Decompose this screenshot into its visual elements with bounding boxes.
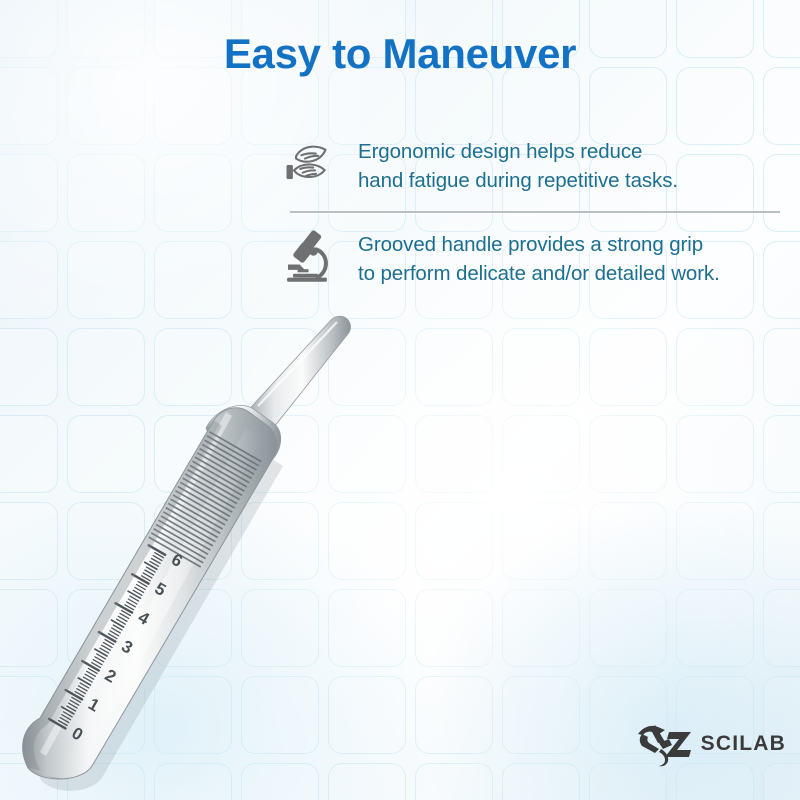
- handle-groove: [171, 499, 223, 529]
- ruler-minor-tick: [87, 671, 96, 676]
- ruler-minor-tick: [77, 689, 86, 694]
- background-tile: [415, 676, 493, 754]
- handle-groove: [151, 533, 203, 563]
- ruler-numeral: 0: [68, 723, 86, 744]
- background-tile: [154, 154, 232, 232]
- background-tile: [328, 328, 406, 406]
- ruler-minor-tick: [145, 570, 154, 575]
- ruler-minor-tick: [95, 649, 107, 656]
- background-tile: [0, 676, 58, 754]
- handle-groove: [154, 529, 206, 559]
- ruler-minor-tick: [97, 654, 106, 659]
- background-tile: [502, 502, 580, 580]
- background-tile: [0, 502, 58, 580]
- background-tile: [67, 589, 145, 667]
- ruler-minor-tick: [60, 718, 69, 723]
- page-title: Easy to Maneuver: [0, 30, 800, 78]
- background-tile: [502, 763, 580, 800]
- ruler-minor-tick: [147, 567, 156, 572]
- ruler-minor-tick: [100, 648, 109, 653]
- background-tile: [328, 763, 406, 800]
- handle-groove: [183, 478, 235, 508]
- ruler-minor-tick: [108, 634, 117, 639]
- ruler-minor-tick: [70, 700, 79, 705]
- handle-groove: [200, 449, 252, 479]
- ruler-numeral: 2: [102, 666, 120, 687]
- background-tile: [154, 241, 232, 319]
- ruler-minor-tick: [67, 706, 76, 711]
- ruler-minor-tick: [150, 561, 159, 566]
- background-tile: [589, 763, 667, 800]
- ruler-major-tick: [149, 545, 166, 555]
- background-tile: [67, 328, 145, 406]
- background-tile: [154, 67, 232, 145]
- ruler-minor-tick: [93, 660, 102, 665]
- scalpel-handle-image: 0123456: [0, 300, 580, 800]
- ruler-major-tick: [82, 661, 99, 671]
- hand-leaf-icon: [282, 134, 344, 192]
- ruler-numeral: 1: [85, 694, 103, 715]
- feature-line: hand fatigue during repetitive tasks.: [358, 166, 678, 195]
- background-tile: [415, 328, 493, 406]
- ruler-minor-tick: [78, 678, 90, 685]
- ruler-minor-tick: [88, 668, 97, 673]
- handle-groove: [175, 491, 227, 521]
- handle-groove: [173, 495, 225, 525]
- ruler-minor-tick: [62, 707, 74, 714]
- ruler-major-tick: [49, 719, 66, 729]
- handle-groove: [159, 520, 211, 550]
- handle-groove: [166, 508, 218, 538]
- background-tile: [241, 328, 319, 406]
- ruler-minor-tick: [138, 582, 147, 587]
- feature-text-ergonomic: Ergonomic design helps reduce hand fatig…: [358, 134, 678, 195]
- handle-groove: [168, 503, 220, 533]
- handle-groove: [190, 465, 242, 495]
- handle-groove: [178, 487, 230, 517]
- ruler-minor-tick: [125, 605, 134, 610]
- ruler-minor-tick: [85, 674, 94, 679]
- ruler-major-tick: [66, 690, 83, 699]
- ruler-minor-tick: [62, 715, 71, 720]
- background-tile: [502, 328, 580, 406]
- handle-groove: [161, 516, 213, 546]
- ruler-minor-tick: [64, 712, 73, 717]
- background-tile: [589, 328, 667, 406]
- ruler-minor-tick: [153, 556, 162, 561]
- background-tile: [241, 763, 319, 800]
- background-tile: [67, 763, 145, 800]
- feature-line: Ergonomic design helps reduce: [358, 137, 678, 166]
- feature-line: to perform delicate and/or detailed work…: [358, 259, 720, 288]
- ruler-numeral: 3: [118, 637, 136, 658]
- ruler-numeral: 5: [151, 579, 169, 600]
- ruler-minor-tick: [118, 616, 127, 621]
- feature-item-grooved-handle: Grooved handle provides a strong grip to…: [282, 227, 782, 288]
- ruler-minor-tick: [128, 599, 137, 604]
- ruler-minor-tick: [105, 640, 114, 645]
- background-tile: [67, 502, 145, 580]
- background-tile: [502, 676, 580, 754]
- ruler-minor-tick: [102, 645, 111, 650]
- background-tile: [763, 415, 800, 493]
- ruler-major-tick: [132, 574, 149, 584]
- ruler-minor-tick: [152, 559, 161, 564]
- ruler-minor-tick: [113, 625, 122, 630]
- background-tile: [67, 676, 145, 754]
- background-tile: [763, 328, 800, 406]
- ruler-minor-tick: [137, 585, 146, 590]
- background-tile: [0, 328, 58, 406]
- handle-groove: [180, 482, 232, 512]
- ruler-minor-tick: [112, 620, 124, 627]
- microscope-icon: [282, 227, 344, 285]
- background-tile: [241, 589, 319, 667]
- ruler-minor-tick: [142, 576, 151, 581]
- ruler-minor-tick: [110, 631, 119, 636]
- background-tile: [589, 589, 667, 667]
- background-tile: [415, 763, 493, 800]
- background-tile: [0, 241, 58, 319]
- background-tile: [241, 502, 319, 580]
- saz-monogram-icon: [635, 722, 697, 768]
- ruler-minor-tick: [112, 628, 121, 633]
- background-tile: [763, 763, 800, 800]
- background-tile: [328, 502, 406, 580]
- background-tile: [154, 676, 232, 754]
- background-tile: [0, 154, 58, 232]
- background-tile: [328, 676, 406, 754]
- background-tile: [328, 415, 406, 493]
- handle-groove: [163, 512, 215, 542]
- background-tile: [415, 415, 493, 493]
- background-tint-bottom-left: [0, 480, 440, 800]
- background-tile: [763, 589, 800, 667]
- background-tile-pattern: [0, 0, 800, 800]
- handle-groove: [202, 444, 254, 474]
- background-tile: [0, 589, 58, 667]
- handle-groove: [188, 470, 240, 500]
- logo-wordmark: SCILAB: [701, 732, 786, 758]
- ruler-minor-tick: [103, 642, 112, 647]
- ruler-major-tick: [116, 603, 133, 612]
- feature-text-grooved-handle: Grooved handle provides a strong grip to…: [358, 227, 720, 288]
- ruler-numeral: 4: [135, 608, 153, 629]
- background-tile: [676, 415, 754, 493]
- handle-groove: [149, 537, 201, 567]
- feature-divider: [290, 211, 780, 213]
- ruler-minor-tick: [155, 553, 164, 558]
- ruler-minor-tick: [83, 677, 92, 682]
- handle-groove: [195, 457, 247, 487]
- background-tile: [676, 502, 754, 580]
- ruler-minor-tick: [128, 591, 140, 598]
- ruler-minor-tick: [92, 663, 101, 668]
- background-tile: [589, 502, 667, 580]
- background-tile: [415, 589, 493, 667]
- background-tile: [676, 589, 754, 667]
- ruler-minor-tick: [78, 686, 87, 691]
- background-tile: [154, 589, 232, 667]
- handle-groove: [192, 461, 244, 491]
- background-tile: [589, 415, 667, 493]
- background-tile: [502, 415, 580, 493]
- handle-groove: [207, 436, 259, 466]
- ruler-minor-tick: [145, 562, 157, 569]
- background-tile: [241, 676, 319, 754]
- background-tile: [0, 415, 58, 493]
- handle-groove: [185, 474, 237, 504]
- ruler-minor-tick: [117, 619, 126, 624]
- ruler-minor-tick: [72, 697, 81, 702]
- background-tile: [415, 502, 493, 580]
- ruler-minor-tick: [69, 703, 78, 708]
- brand-logo: SCILAB: [635, 722, 786, 768]
- ruler-minor-tick: [59, 721, 68, 726]
- ruler-minor-tick: [143, 573, 152, 578]
- product-feature-banner: Easy to Maneuver: [0, 0, 800, 800]
- background-tile: [0, 67, 58, 145]
- ruler-minor-tick: [135, 587, 144, 592]
- ruler-minor-tick: [133, 590, 142, 595]
- handle-groove: [156, 525, 208, 555]
- handle-groove: [197, 453, 249, 483]
- ruler-minor-tick: [122, 611, 131, 616]
- feature-list: Ergonomic design helps reduce hand fatig…: [282, 134, 782, 288]
- ruler-minor-tick: [130, 596, 139, 601]
- background-tile: [67, 415, 145, 493]
- background-tile: [67, 154, 145, 232]
- handle-groove: [209, 432, 261, 462]
- ruler-numeral: 6: [168, 550, 186, 571]
- background-tile: [763, 502, 800, 580]
- handle-groove: [205, 440, 257, 470]
- ruler-minor-tick: [95, 657, 104, 662]
- background-tile: [241, 415, 319, 493]
- background-tile: [676, 328, 754, 406]
- background-tile: [502, 589, 580, 667]
- ruler-major-tick: [99, 632, 115, 642]
- background-tile: [154, 502, 232, 580]
- background-tile: [67, 67, 145, 145]
- ruler-minor-tick: [75, 692, 84, 697]
- ruler-minor-tick: [120, 613, 129, 618]
- background-tile: [154, 415, 232, 493]
- background-tile: [67, 241, 145, 319]
- background-tile: [154, 328, 232, 406]
- background-tile: [676, 763, 754, 800]
- background-tile: [0, 763, 58, 800]
- ruler-minor-tick: [80, 683, 89, 688]
- feature-item-ergonomic: Ergonomic design helps reduce hand fatig…: [282, 134, 782, 195]
- background-tile: [154, 763, 232, 800]
- feature-line: Grooved handle provides a strong grip: [358, 230, 720, 259]
- ruler-minor-tick: [127, 602, 136, 607]
- background-tile: [328, 589, 406, 667]
